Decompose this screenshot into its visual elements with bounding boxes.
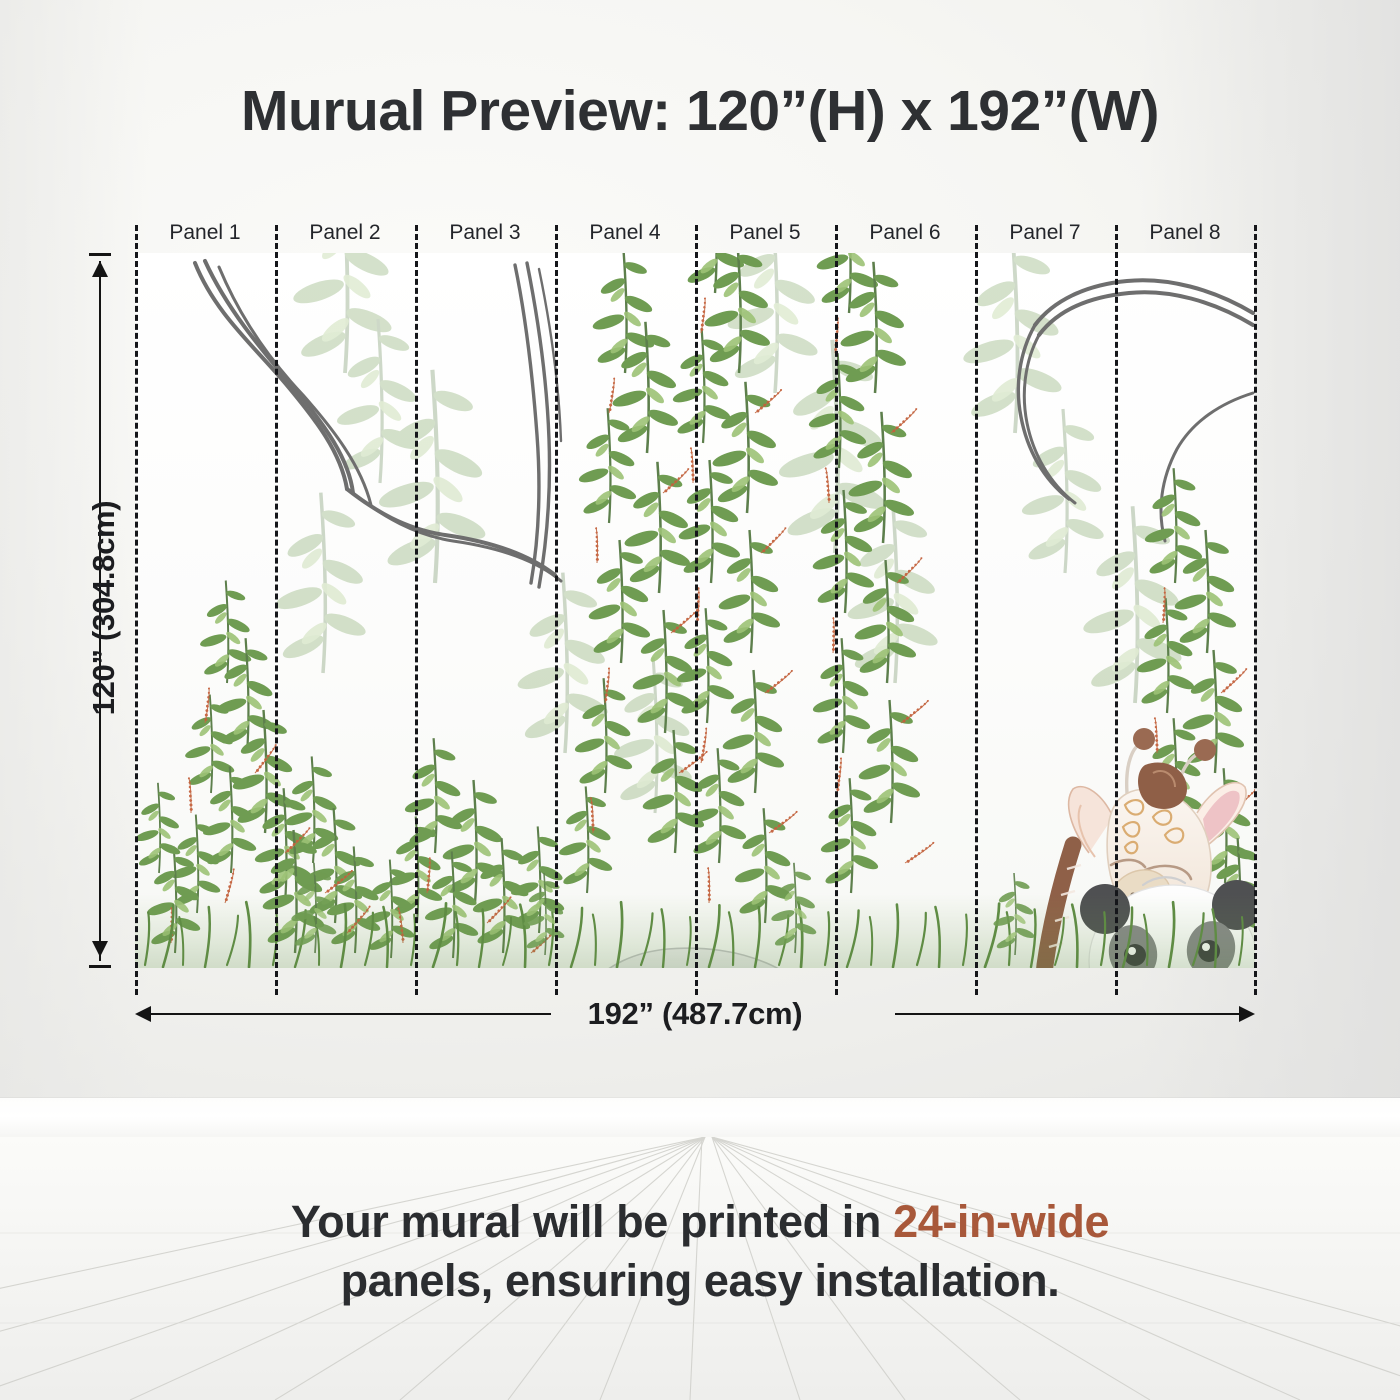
arrow-right-icon xyxy=(1239,1006,1255,1022)
width-dimension: 192” (487.7cm) xyxy=(135,994,1255,1034)
panel-label-row: Panel 1 Panel 2 Panel 3 Panel 4 Panel 5 … xyxy=(135,216,1255,250)
caption-accent: 24-in-wide xyxy=(893,1196,1109,1247)
height-dimension-label: 120” (304.8cm) xyxy=(86,328,122,888)
panel-label-7: Panel 7 xyxy=(975,216,1115,250)
panel-label-1: Panel 1 xyxy=(135,216,275,250)
height-tick-bottom xyxy=(89,965,111,968)
panel-label-3: Panel 3 xyxy=(415,216,555,250)
panel-label-2: Panel 2 xyxy=(275,216,415,250)
panel-label-4: Panel 4 xyxy=(555,216,695,250)
arrow-up-icon xyxy=(92,261,108,277)
width-dimension-line-right xyxy=(895,1013,1239,1015)
baseboard xyxy=(0,1098,1400,1140)
page-title: Murual Preview: 120”(H) x 192”(W) xyxy=(0,78,1400,144)
caption-line1-prefix: Your mural will be printed in xyxy=(291,1196,893,1247)
panel-label-8: Panel 8 xyxy=(1115,216,1255,250)
panel-label-6: Panel 6 xyxy=(835,216,975,250)
height-dimension: 120” (304.8cm) xyxy=(78,253,138,968)
footer-caption: Your mural will be printed in 24-in-wide… xyxy=(100,1192,1300,1311)
mural-preview-image xyxy=(135,253,1255,968)
mural-artwork-svg xyxy=(135,253,1255,968)
caption-line2: panels, ensuring easy installation. xyxy=(341,1255,1060,1306)
height-tick-top xyxy=(89,253,111,256)
arrow-down-icon xyxy=(92,941,108,957)
panel-label-5: Panel 5 xyxy=(695,216,835,250)
